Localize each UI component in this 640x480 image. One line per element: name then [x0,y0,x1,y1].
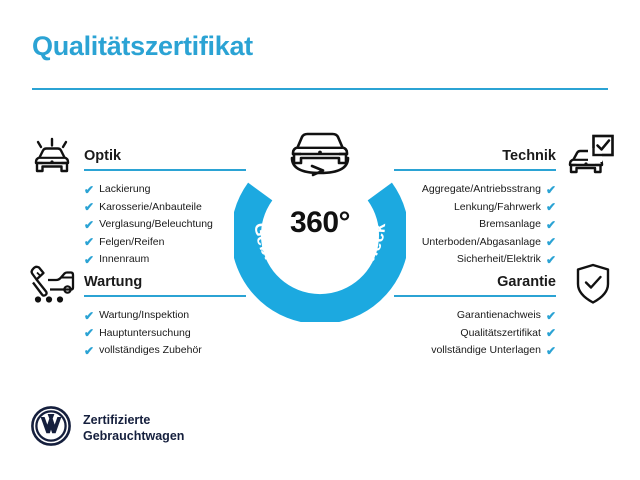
list-item-label: Karosserie/Anbauteile [99,199,202,217]
section-title-technik: Technik [394,146,556,166]
footer-brand: ZertifizierteGebrauchtwagen [31,406,184,451]
quality-certificate-page: Qualitätszertifikat [0,0,640,480]
list-item: ✔Verglasung/Beleuchtung [84,216,246,234]
list-item: vollständige Unterlagen✔ [394,342,556,360]
check-icon: ✔ [546,254,556,266]
list-item-label: Aggregate/Antriebsstrang [422,181,541,199]
check-icon: ✔ [546,236,556,248]
badge-center-label: 360° [234,206,406,240]
check-icon: ✔ [546,184,556,196]
list-item: Sicherheit/Elektrik✔ [394,251,556,269]
footer-text: ZertifizierteGebrauchtwagen [83,413,184,444]
list-item-label: vollständige Unterlagen [431,342,541,360]
list-item-label: Qualitätszertifikat [460,325,541,343]
list-item: Aggregate/Antriebsstrang✔ [394,181,556,199]
section-garantie: Garantie Garantienachweis✔ Qualitätszert… [394,272,556,360]
footer-line-2: Gebrauchtwagen [83,429,184,443]
checklist-wartung: ✔Wartung/Inspektion ✔Hauptuntersuchung ✔… [84,307,246,360]
check-icon: ✔ [84,310,94,322]
list-item-label: Lenkung/Fahrwerk [454,199,541,217]
list-item-label: Unterboden/Abgasanlage [422,234,541,252]
list-item: Unterboden/Abgasanlage✔ [394,234,556,252]
check-icon: ✔ [84,327,94,339]
volkswagen-logo [31,406,71,451]
section-divider-garantie [394,295,556,297]
page-title: Qualitätszertifikat [32,32,253,62]
list-item: Bremsanlage✔ [394,216,556,234]
checklist-garantie: Garantienachweis✔ Qualitätszertifikat✔ v… [394,307,556,360]
section-wartung: Wartung ✔Wartung/Inspektion ✔Hauptunters… [84,272,246,360]
shield-check-icon [572,261,614,312]
check-icon: ✔ [84,254,94,266]
list-item: Garantienachweis✔ [394,307,556,325]
list-item-label: Wartung/Inspektion [99,307,189,325]
list-item: ✔Wartung/Inspektion [84,307,246,325]
footer-line-1: Zertifizierte [83,413,150,427]
section-header-technik: Technik [394,146,556,172]
checklist-technik: Aggregate/Antriebsstrang✔ Lenkung/Fahrwe… [394,181,556,269]
list-item: Qualitätszertifikat✔ [394,325,556,343]
check-icon: ✔ [546,201,556,213]
check-icon: ✔ [84,236,94,248]
list-item: ✔Lackierung [84,181,246,199]
list-item-label: Verglasung/Beleuchtung [99,216,213,234]
section-header-optik: Optik [84,146,246,172]
list-item-label: Felgen/Reifen [99,234,164,252]
check-icon: ✔ [546,327,556,339]
car-rotate-icon [282,126,358,180]
section-title-wartung: Wartung [84,272,246,292]
title-divider [32,88,608,90]
check-icon: ✔ [546,345,556,357]
check-icon: ✔ [84,219,94,231]
check-icon: ✔ [546,219,556,231]
list-item-label: Garantienachweis [457,307,541,325]
section-title-optik: Optik [84,146,246,166]
list-item: ✔Felgen/Reifen [84,234,246,252]
check-icon: ✔ [84,345,94,357]
car-front-shine-icon [28,133,76,184]
list-item-label: Innenraum [99,251,149,269]
list-item: ✔Karosserie/Anbauteile [84,199,246,217]
list-item-label: Lackierung [99,181,150,199]
section-technik: Technik Aggregate/Antriebsstrang✔ Lenkun… [394,146,556,269]
section-divider-technik [394,169,556,171]
list-item-label: vollständiges Zubehör [99,342,202,360]
wrench-car-service-icon [26,260,78,311]
list-item-label: Hauptuntersuchung [99,325,191,343]
list-item-label: Sicherheit/Elektrik [457,251,541,269]
section-divider-optik [84,169,246,171]
list-item: ✔Innenraum [84,251,246,269]
section-header-wartung: Wartung [84,272,246,298]
list-item: Lenkung/Fahrwerk✔ [394,199,556,217]
list-item: ✔vollständiges Zubehör [84,342,246,360]
section-title-garantie: Garantie [394,272,556,292]
list-item: ✔Hauptuntersuchung [84,325,246,343]
checklist-optik: ✔Lackierung ✔Karosserie/Anbauteile ✔Verg… [84,181,246,269]
section-divider-wartung [84,295,246,297]
check-icon: ✔ [84,184,94,196]
section-optik: Optik ✔Lackierung ✔Karosserie/Anbauteile… [84,146,246,269]
section-header-garantie: Garantie [394,272,556,298]
car-checklist-icon [566,131,616,184]
list-item-label: Bremsanlage [479,216,541,234]
check-icon: ✔ [84,201,94,213]
check-icon: ✔ [546,310,556,322]
